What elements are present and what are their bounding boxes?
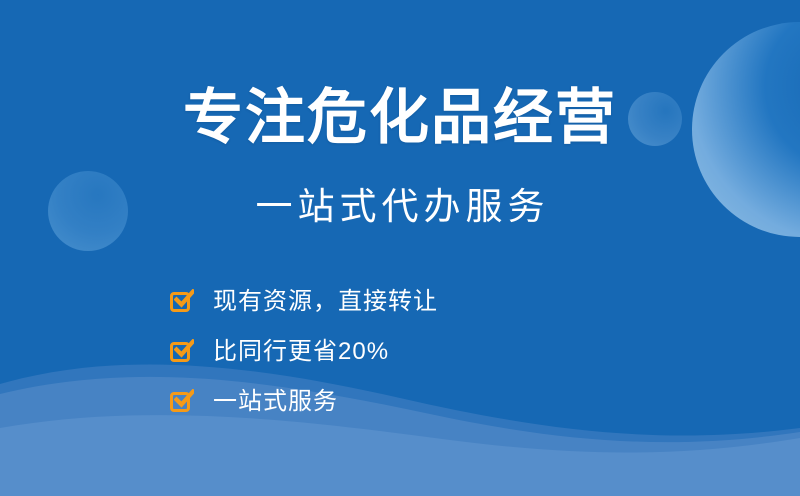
feature-item: 比同行更省20% [170, 327, 590, 377]
feature-item-label: 一站式服务 [213, 387, 338, 417]
banner-headline: 专注危化品经营 [0, 83, 800, 153]
banner-content: 专注危化品经营 一站式代办服务 现有资源，直接转让 [0, 0, 800, 496]
feature-list: 现有资源，直接转让 比同行更省20% 一站式服务 [170, 277, 590, 427]
checkbox-checked-icon [170, 389, 196, 415]
feature-item: 现有资源，直接转让 [170, 277, 590, 327]
promo-banner: 专注危化品经营 一站式代办服务 现有资源，直接转让 [0, 0, 800, 496]
feature-item-label: 现有资源，直接转让 [213, 287, 438, 317]
checkbox-checked-icon [170, 289, 196, 315]
feature-item: 一站式服务 [170, 377, 590, 427]
feature-item-label: 比同行更省20% [213, 337, 389, 367]
banner-subtitle: 一站式代办服务 [0, 184, 800, 230]
checkbox-checked-icon [170, 339, 196, 365]
